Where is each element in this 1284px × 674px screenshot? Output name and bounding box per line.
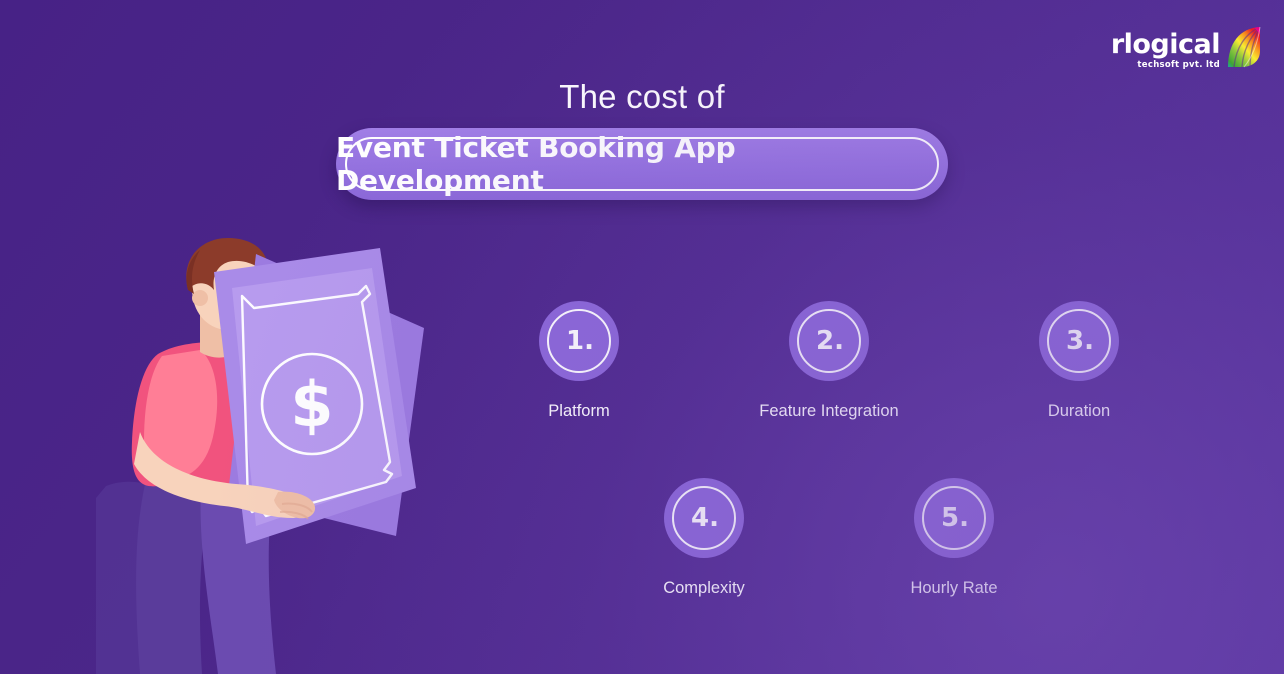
step-number-3: 3. xyxy=(1039,301,1119,381)
step-circle-1: 1. xyxy=(539,301,619,381)
step-circle-2: 2. xyxy=(789,301,869,381)
rainbow-fan-logo-icon xyxy=(1224,25,1264,69)
step-number-5: 5. xyxy=(914,478,994,558)
dollar-sign-icon: $ xyxy=(290,368,333,441)
step-label-hourly-rate: Hourly Rate xyxy=(864,579,1044,598)
step-number-1: 1. xyxy=(539,301,619,381)
brand-name: rlogical xyxy=(1111,31,1220,58)
title-pill: Event Ticket Booking App Development xyxy=(336,128,948,200)
step-item-5[interactable]: 5. Hourly Rate xyxy=(864,478,1044,598)
infographic-canvas: rlogical techsoft pvt. ltd xyxy=(0,0,1284,674)
step-label-complexity: Complexity xyxy=(614,579,794,598)
svg-text:$: $ xyxy=(290,368,333,441)
step-circle-3: 3. xyxy=(1039,301,1119,381)
brand-tagline: techsoft pvt. ltd xyxy=(1137,61,1220,70)
step-label-duration: Duration xyxy=(989,402,1169,421)
page-title: Event Ticket Booking App Development xyxy=(336,128,948,200)
step-item-4[interactable]: 4. Complexity xyxy=(614,478,794,598)
step-circle-4: 4. xyxy=(664,478,744,558)
brand-logo-text: rlogical techsoft pvt. ltd xyxy=(1111,31,1220,70)
step-item-2[interactable]: 2. Feature Integration xyxy=(739,301,919,421)
step-number-2: 2. xyxy=(789,301,869,381)
brand-logo[interactable]: rlogical techsoft pvt. ltd xyxy=(1111,25,1264,75)
step-item-1[interactable]: 1. Platform xyxy=(489,301,669,421)
step-circle-5: 5. xyxy=(914,478,994,558)
step-item-3[interactable]: 3. Duration xyxy=(989,301,1169,421)
step-label-feature-integration: Feature Integration xyxy=(739,402,919,421)
person-holding-money-illustration: $ xyxy=(96,236,476,674)
step-number-4: 4. xyxy=(664,478,744,558)
page-eyebrow: The cost of xyxy=(0,78,1284,116)
step-label-platform: Platform xyxy=(489,402,669,421)
